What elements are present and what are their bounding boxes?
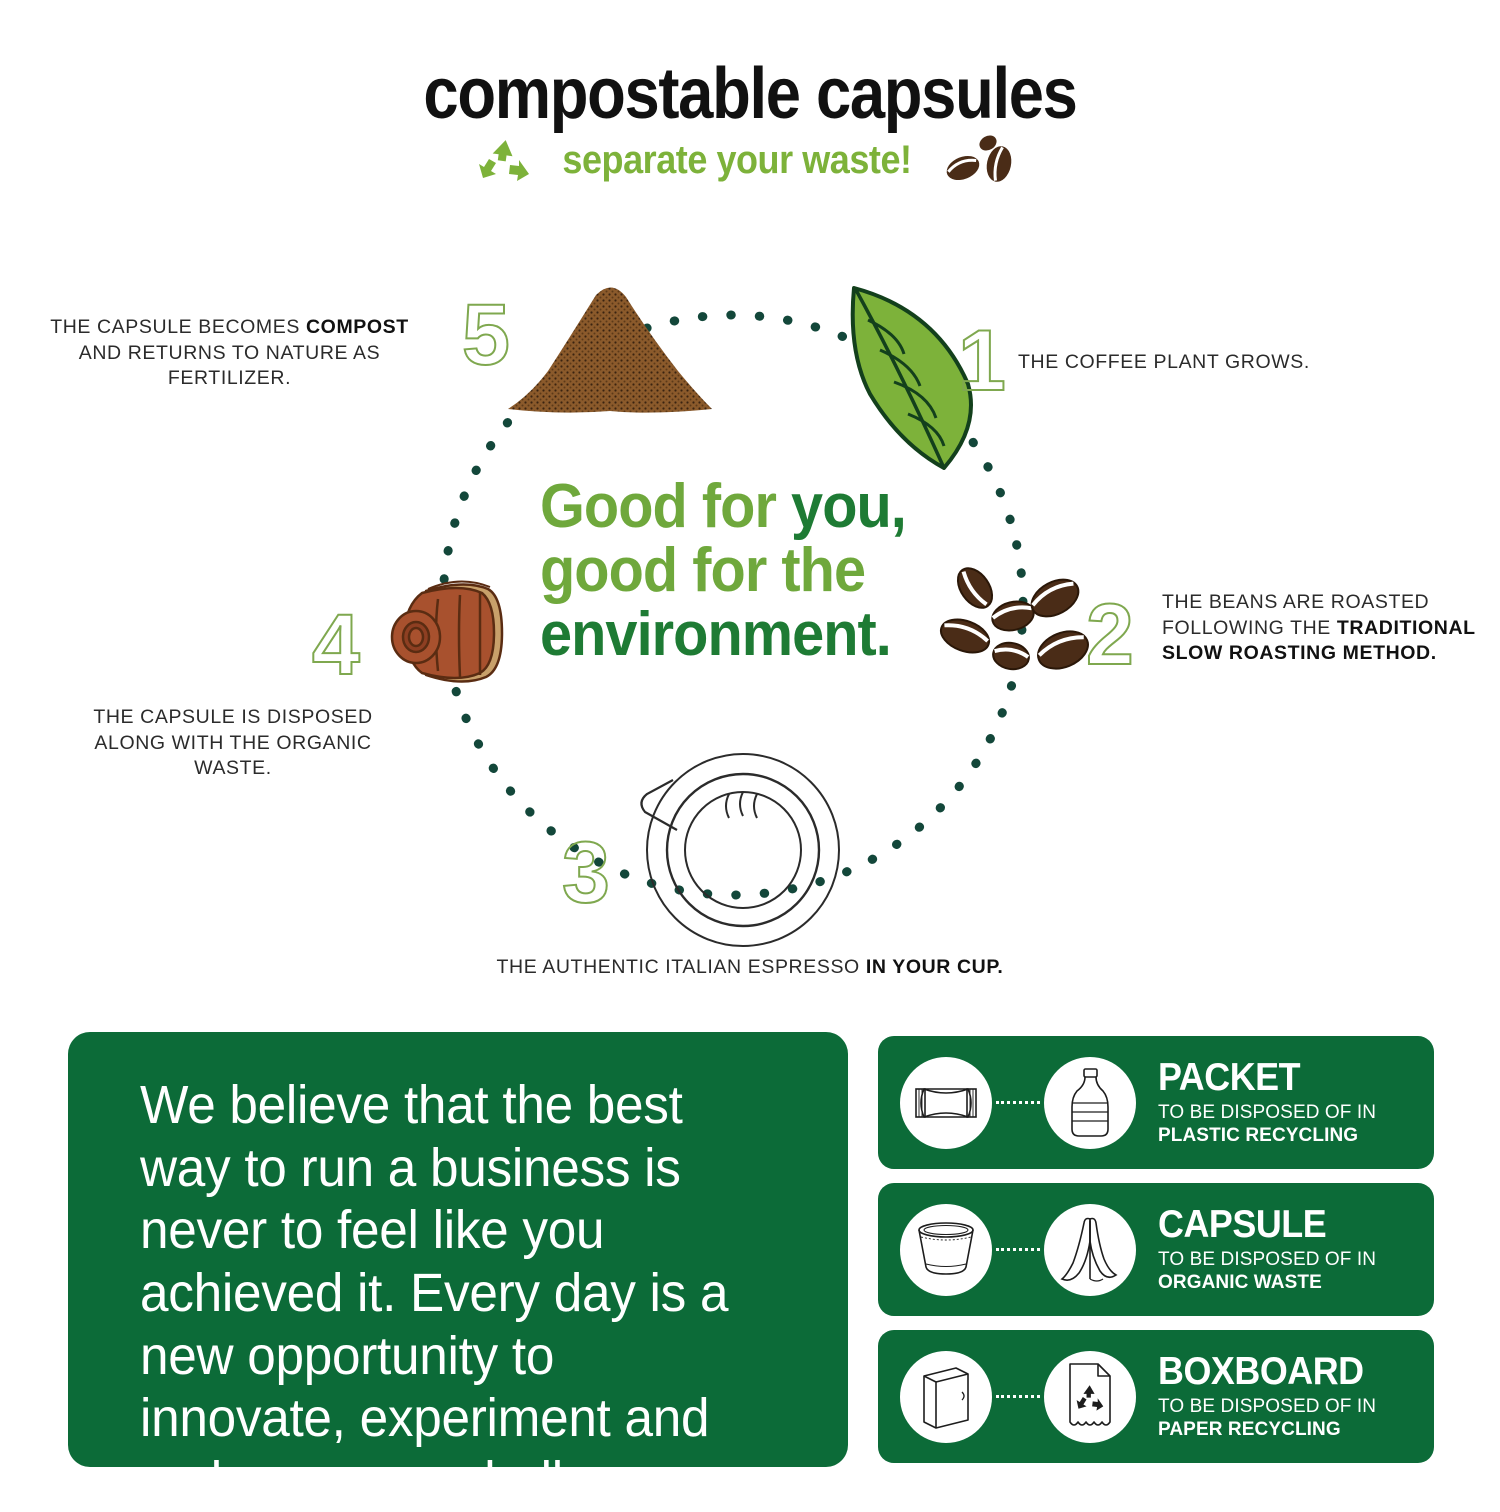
quote-text: We believe that the best way to run a bu… — [140, 1074, 767, 1512]
step-number-1: 1 — [958, 318, 1006, 404]
packet-title: PACKET — [1158, 1058, 1412, 1097]
slogan-line3-dark: environment. — [540, 600, 891, 669]
packet-subtitle: TO BE DISPOSED OF IN PLASTIC RECYCLING — [1158, 1102, 1434, 1146]
step-caption-5: THE CAPSULE BECOMES COMPOST AND RETURNS … — [32, 315, 427, 392]
cycle-diagram: 1 2 3 4 5 THE CAPSULE BECOMES COMPOST AN… — [0, 230, 1500, 1020]
slogan-line2-light: good for the — [540, 536, 865, 605]
capsule-text: CAPSULE TO BE DISPOSED OF IN ORGANIC WAS… — [1158, 1205, 1434, 1293]
capsule-sub-before: TO BE DISPOSED OF IN — [1158, 1249, 1376, 1270]
waste-panel-packet[interactable]: PACKET TO BE DISPOSED OF IN PLASTIC RECY… — [878, 1036, 1434, 1169]
paper-recycle-icon — [1044, 1351, 1136, 1443]
compost-pile-icon — [500, 275, 720, 415]
capsule-subtitle: TO BE DISPOSED OF IN ORGANIC WASTE — [1158, 1249, 1434, 1293]
step-caption-3-bold: IN YOUR CUP. — [866, 956, 1004, 978]
step-number-5: 5 — [462, 292, 510, 378]
packet-dotted-connector — [996, 1101, 1040, 1104]
step-caption-2: THE BEANS ARE ROASTED FOLLOWING THE TRAD… — [1162, 590, 1482, 667]
step-caption-5-before: THE CAPSULE BECOMES — [50, 316, 306, 338]
coffee-capsule-icon — [368, 575, 518, 695]
boxboard-text: BOXBOARD TO BE DISPOSED OF IN PAPER RECY… — [1158, 1352, 1434, 1440]
step-caption-1: THE COFFEE PLANT GROWS. — [1018, 350, 1348, 376]
plastic-bottle-icon — [1044, 1057, 1136, 1149]
boxboard-subtitle: TO BE DISPOSED OF IN PAPER RECYCLING — [1158, 1396, 1434, 1440]
quote-panel: We believe that the best way to run a bu… — [68, 1032, 848, 1467]
espresso-cup-icon — [625, 750, 855, 950]
carton-box-icon — [900, 1351, 992, 1443]
capsule-cup-icon — [900, 1204, 992, 1296]
waste-panel-capsule[interactable]: CAPSULE TO BE DISPOSED OF IN ORGANIC WAS… — [878, 1183, 1434, 1316]
step-caption-5-after: AND RETURNS TO NATURE AS FERTILIZER. — [79, 342, 381, 390]
packet-sachet-icon — [900, 1057, 992, 1149]
header-subtitle: separate your waste! — [562, 138, 911, 183]
packet-icons — [878, 1057, 1136, 1149]
capsule-dotted-connector — [996, 1248, 1040, 1251]
slogan-line1-dark: you, — [791, 472, 906, 541]
step-number-2: 2 — [1086, 592, 1134, 678]
step-number-3: 3 — [562, 830, 610, 916]
packet-sub-bold: PLASTIC RECYCLING — [1158, 1125, 1358, 1146]
packet-sub-before: TO BE DISPOSED OF IN — [1158, 1102, 1376, 1123]
boxboard-dotted-connector — [996, 1395, 1040, 1398]
packet-text: PACKET TO BE DISPOSED OF IN PLASTIC RECY… — [1158, 1058, 1434, 1146]
header: compostable capsules separate your waste… — [0, 58, 1500, 186]
step-number-4: 4 — [312, 602, 360, 688]
capsule-sub-bold: ORGANIC WASTE — [1158, 1272, 1322, 1293]
capsule-icons — [878, 1204, 1136, 1296]
boxboard-icons — [878, 1351, 1136, 1443]
step-caption-4-before: THE CAPSULE IS DISPOSED ALONG WITH THE O… — [93, 706, 372, 779]
step-caption-4: THE CAPSULE IS DISPOSED ALONG WITH THE O… — [58, 705, 408, 782]
boxboard-title: BOXBOARD — [1158, 1352, 1412, 1391]
banana-peel-icon — [1044, 1204, 1136, 1296]
waste-panel-boxboard[interactable]: BOXBOARD TO BE DISPOSED OF IN PAPER RECY… — [878, 1330, 1434, 1463]
boxboard-sub-bold: PAPER RECYCLING — [1158, 1419, 1341, 1440]
step-caption-1-before: THE COFFEE PLANT GROWS. — [1018, 351, 1310, 373]
step-caption-3: THE AUTHENTIC ITALIAN ESPRESSO IN YOUR C… — [490, 955, 1010, 981]
coffee-beans-icon — [941, 134, 1023, 186]
center-slogan: Good for you, good for the environment. — [540, 475, 912, 667]
step-caption-3-before: THE AUTHENTIC ITALIAN ESPRESSO — [497, 956, 866, 978]
capsule-title: CAPSULE — [1158, 1205, 1412, 1244]
page-title: compostable capsules — [90, 58, 1410, 130]
header-subtitle-row: separate your waste! — [0, 134, 1500, 186]
boxboard-sub-before: TO BE DISPOSED OF IN — [1158, 1396, 1376, 1417]
slogan-line1-light: Good for — [540, 472, 791, 541]
step-caption-5-bold: COMPOST — [306, 316, 409, 338]
recycle-icon — [477, 138, 533, 182]
